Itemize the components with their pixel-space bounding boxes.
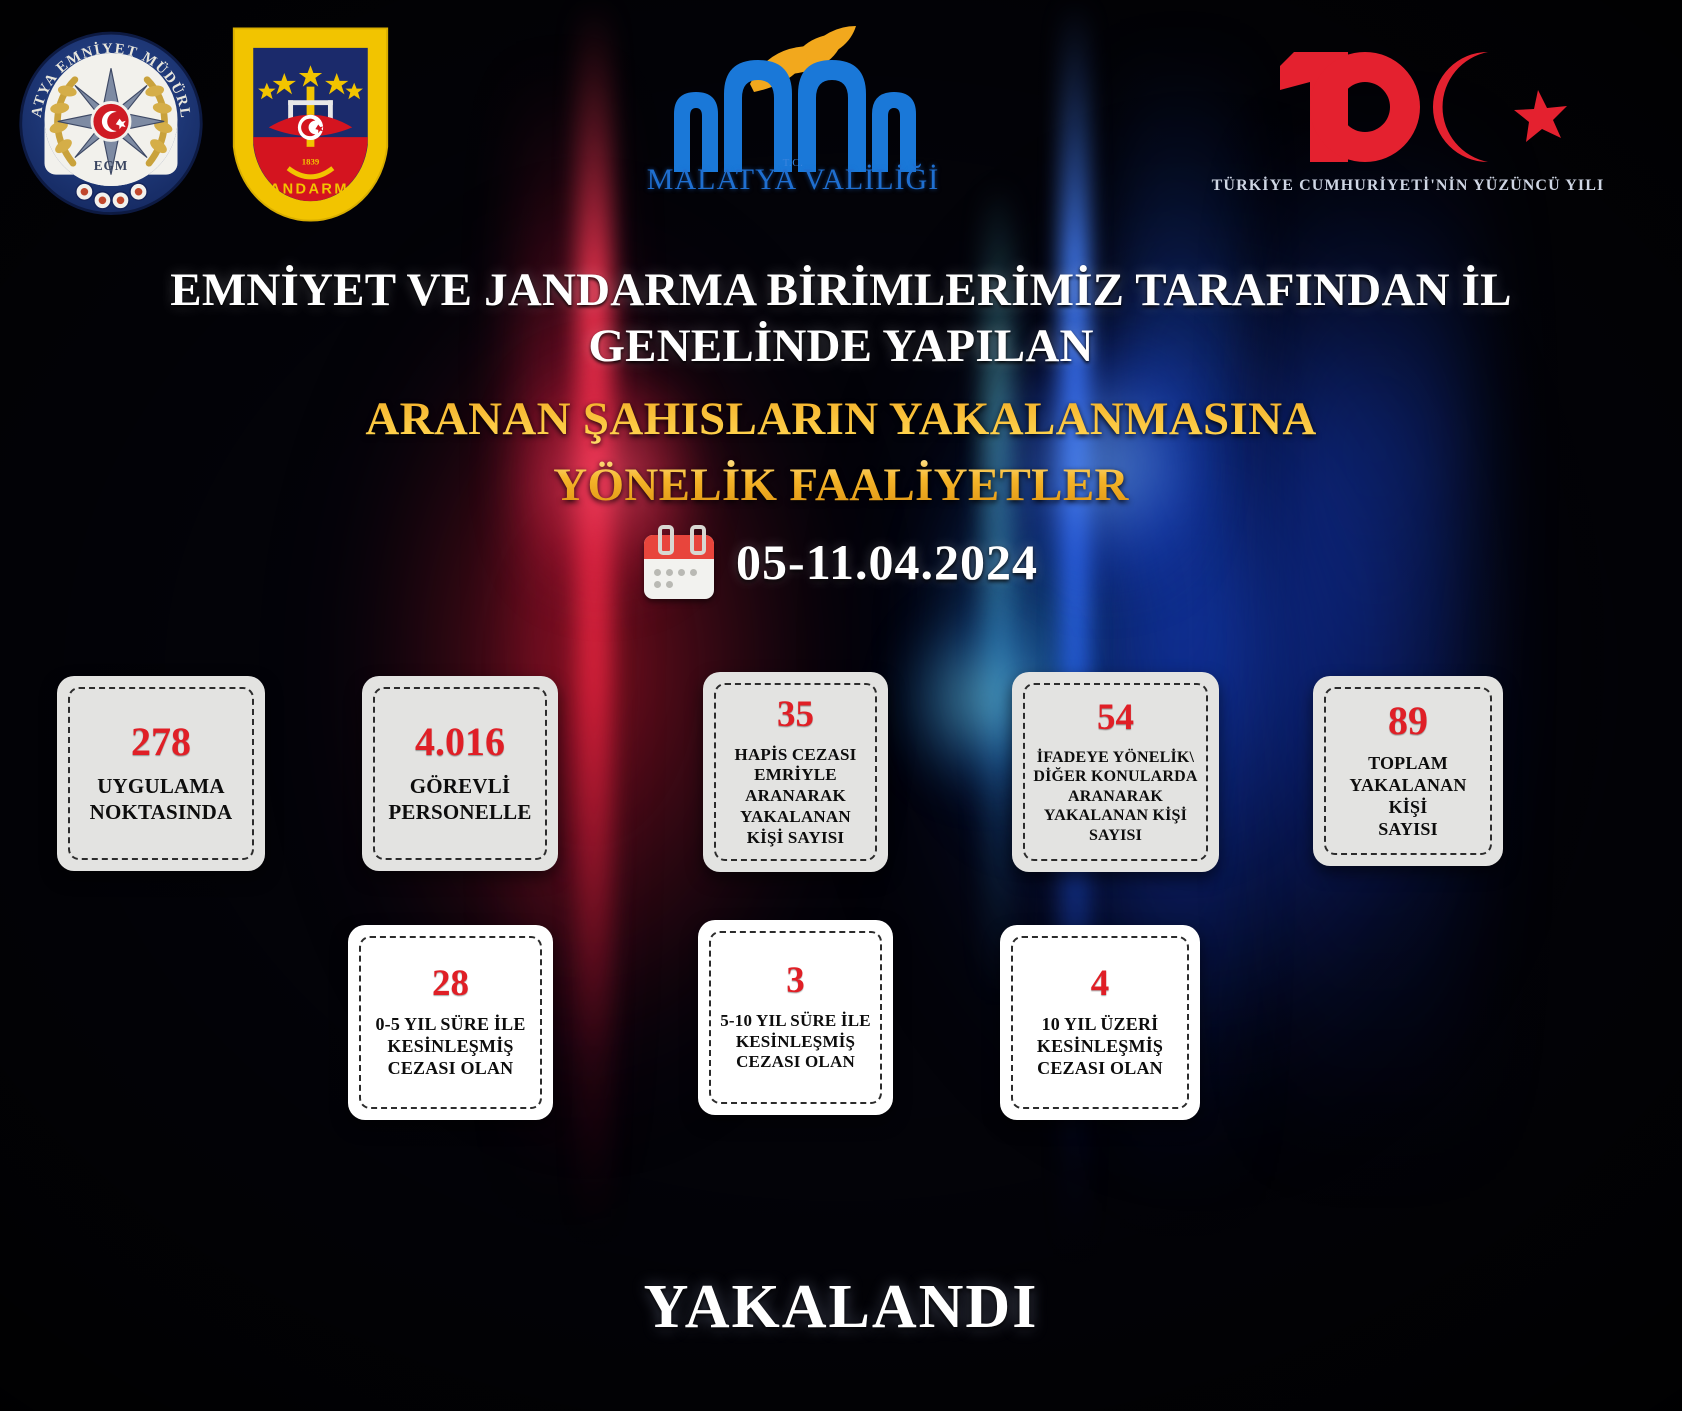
stat-label: HAPİS CEZASIEMRİYLEARANARAKYAKALANANKİŞİ…: [735, 745, 857, 849]
svg-text:1839: 1839: [302, 156, 320, 166]
stat-label: UYGULAMANOKTASINDA: [90, 774, 233, 825]
stat-value: 278: [131, 722, 191, 762]
stat-value: 35: [777, 696, 814, 733]
calendar-icon: [644, 525, 714, 599]
page-title-line2: GENELİNDE YAPILAN: [70, 318, 1612, 374]
date-row: 05-11.04.2024: [0, 525, 1682, 599]
stat-value: 3: [786, 962, 805, 999]
stat-value: 28: [432, 965, 469, 1002]
stat-value: 54: [1097, 699, 1134, 736]
100-yil-caption: TÜRKİYE CUMHURİYETİ'NİN YÜZÜNCÜ YILI: [1198, 177, 1618, 195]
logo-bar: MALATYA EMNİYET MÜDÜRLÜĞÜ: [0, 0, 1682, 250]
footer-caption: YAKALANDI: [0, 1272, 1682, 1343]
stat-label: 10 YIL ÜZERİKESİNLEŞMİŞCEZASI OLAN: [1037, 1014, 1163, 1080]
page-subtitle-line1: ARANAN ŞAHISLARIN YAKALANMASINA: [70, 386, 1612, 452]
stat-card: 280-5 YIL SÜRE İLEKESİNLEŞMİŞCEZASI OLAN: [348, 925, 553, 1120]
stat-card: 410 YIL ÜZERİKESİNLEŞMİŞCEZASI OLAN: [1000, 925, 1200, 1120]
stat-card-inner-border: 410 YIL ÜZERİKESİNLEŞMİŞCEZASI OLAN: [1011, 936, 1189, 1109]
stat-value: 89: [1388, 701, 1428, 741]
page-title-line1: EMNİYET VE JANDARMA BİRİMLERİMİZ TARAFIN…: [70, 262, 1612, 318]
stat-value: 4.016: [415, 722, 505, 762]
stat-label: GÖREVLİPERSONELLE: [388, 774, 531, 825]
malatya-emniyet-mudurlugu-emblem: MALATYA EMNİYET MÜDÜRLÜĞÜ: [16, 18, 206, 223]
svg-text:EGM: EGM: [94, 158, 129, 173]
stat-label: TOPLAMYAKALANAN KİŞİSAYISI: [1331, 753, 1485, 841]
stat-card: 89TOPLAMYAKALANAN KİŞİSAYISI: [1313, 676, 1503, 866]
100-yil-logo: TÜRKİYE CUMHURİYETİ'NİN YÜZÜNCÜ YILI: [1198, 30, 1618, 210]
stat-card: 278UYGULAMANOKTASINDA: [57, 676, 265, 871]
stat-label: 0-5 YIL SÜRE İLEKESİNLEŞMİŞCEZASI OLAN: [375, 1014, 525, 1080]
stat-card: 4.016GÖREVLİPERSONELLE: [362, 676, 558, 871]
jandarma-emblem: 1839 JANDARMA: [228, 22, 393, 227]
stat-card-inner-border: 278UYGULAMANOKTASINDA: [68, 687, 254, 860]
stat-card-inner-border: 4.016GÖREVLİPERSONELLE: [373, 687, 547, 860]
stat-card: 35-10 YIL SÜRE İLEKESİNLEŞMİŞCEZASI OLAN: [698, 920, 893, 1115]
stat-card-inner-border: 280-5 YIL SÜRE İLEKESİNLEŞMİŞCEZASI OLAN: [359, 936, 542, 1109]
page-subtitle-line2: YÖNELİK FAALİYETLER: [70, 452, 1612, 518]
stat-label: İFADEYE YÖNELİK\DİĞER KONULARDAARANARAKY…: [1033, 748, 1197, 846]
stat-value: 4: [1091, 965, 1110, 1002]
valilik-tc-label: T.C.: [638, 157, 948, 169]
stat-card: 35HAPİS CEZASIEMRİYLEARANARAKYAKALANANKİ…: [703, 672, 888, 872]
svg-text:JANDARMA: JANDARMA: [259, 181, 362, 197]
stat-card-inner-border: 54İFADEYE YÖNELİK\DİĞER KONULARDAARANARA…: [1023, 683, 1208, 861]
stat-card: 54İFADEYE YÖNELİK\DİĞER KONULARDAARANARA…: [1012, 672, 1219, 872]
malatya-valiligi-logo: T.C. MALATYA VALİLİĞİ: [638, 22, 948, 227]
stat-card-inner-border: 35-10 YIL SÜRE İLEKESİNLEŞMİŞCEZASI OLAN: [709, 931, 882, 1104]
page-title: EMNİYET VE JANDARMA BİRİMLERİMİZ TARAFIN…: [0, 262, 1682, 374]
page-subtitle: ARANAN ŞAHISLARIN YAKALANMASINA YÖNELİK …: [0, 386, 1682, 518]
stat-card-inner-border: 89TOPLAMYAKALANAN KİŞİSAYISI: [1324, 687, 1492, 855]
stat-card-inner-border: 35HAPİS CEZASIEMRİYLEARANARAKYAKALANANKİ…: [714, 683, 877, 861]
stat-label: 5-10 YIL SÜRE İLEKESİNLEŞMİŞCEZASI OLAN: [720, 1011, 871, 1073]
date-range-label: 05-11.04.2024: [736, 533, 1038, 591]
